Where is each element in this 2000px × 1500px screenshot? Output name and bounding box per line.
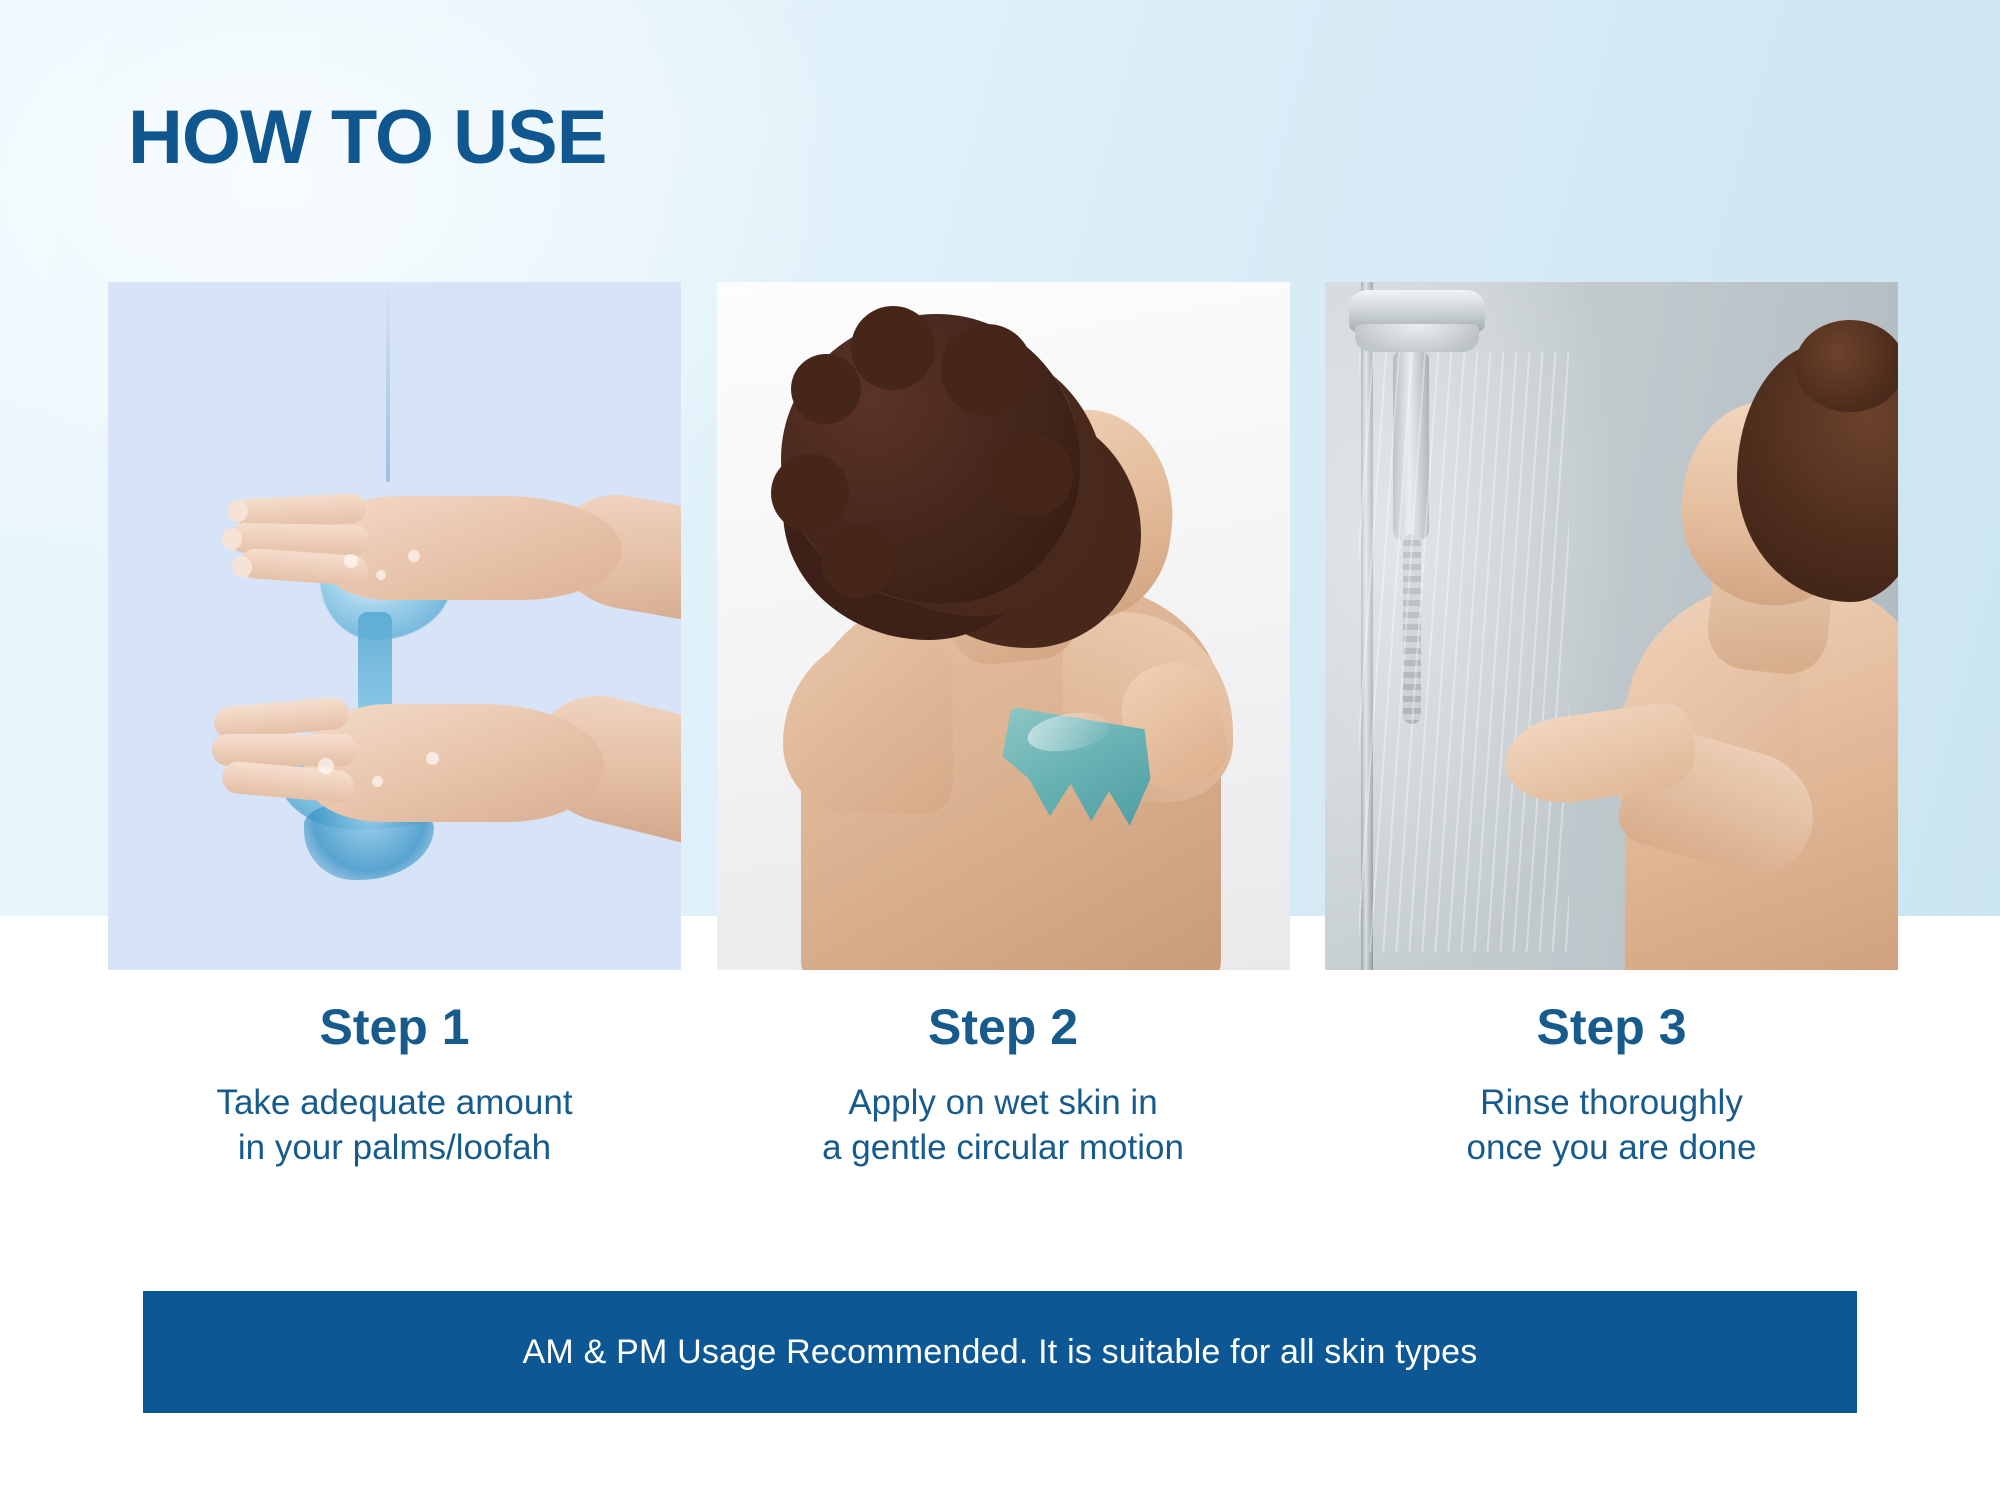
hair-curl-4 (771, 454, 849, 532)
upper-nail-2 (222, 528, 242, 550)
upper-hand-shape (226, 478, 666, 616)
water-stream-shape (386, 282, 390, 482)
step-1-image (108, 282, 681, 970)
hair-curl-3 (941, 324, 1033, 416)
step-3-title: Step 3 (1325, 1000, 1898, 1055)
bubble-2 (376, 570, 386, 580)
page-title: HOW TO USE (128, 100, 606, 176)
hair-curl-5 (991, 434, 1073, 516)
step-1-description-line-1: Take adequate amount (216, 1083, 572, 1122)
step-2-description-line-2: a gentle circular motion (822, 1128, 1184, 1167)
curly-hair-shape (781, 314, 1081, 604)
step-3-caption: Step 3 Rinse thoroughly once you are don… (1325, 1000, 1898, 1230)
hair-bun-shape (1795, 320, 1898, 412)
step-2-caption: Step 2 Apply on wet skin in a gentle cir… (717, 1000, 1290, 1230)
bubble-6 (426, 752, 439, 765)
usage-banner-text: AM & PM Usage Recommended. It is suitabl… (523, 1333, 1478, 1372)
step-1-description-line-2: in your palms/loofah (238, 1128, 551, 1167)
hair-curl-1 (791, 354, 861, 424)
step-1-description: Take adequate amount in your palms/loofa… (108, 1081, 681, 1171)
bubble-1 (344, 554, 358, 568)
how-to-use-poster: HOW TO USE (0, 0, 2000, 1500)
usage-banner: AM & PM Usage Recommended. It is suitabl… (143, 1291, 1857, 1413)
step-2-description: Apply on wet skin in a gentle circular m… (717, 1081, 1290, 1171)
step-2-description-line-1: Apply on wet skin in (848, 1083, 1157, 1122)
step-2-image (717, 282, 1290, 970)
bubble-5 (372, 776, 383, 787)
steam-mist-overlay (1325, 282, 1625, 970)
upper-nail-1 (228, 500, 248, 522)
step-1-caption: Step 1 Take adequate amount in your palm… (108, 1000, 681, 1230)
bubble-4 (318, 758, 334, 774)
step-images-row (108, 282, 1898, 970)
step-2-title: Step 2 (717, 1000, 1290, 1055)
step-3-description: Rinse thoroughly once you are done (1325, 1081, 1898, 1171)
upper-nail-3 (232, 556, 252, 578)
lower-hand-shape (212, 682, 672, 850)
hair-curl-6 (821, 524, 895, 598)
step-captions-row: Step 1 Take adequate amount in your palm… (108, 1000, 1898, 1230)
step-1-title: Step 1 (108, 1000, 681, 1055)
step-3-description-line-2: once you are done (1467, 1128, 1757, 1167)
hair-curl-2 (851, 306, 935, 390)
bubble-3 (408, 550, 420, 562)
step-3-description-line-1: Rinse thoroughly (1480, 1083, 1743, 1122)
step-3-image (1325, 282, 1898, 970)
